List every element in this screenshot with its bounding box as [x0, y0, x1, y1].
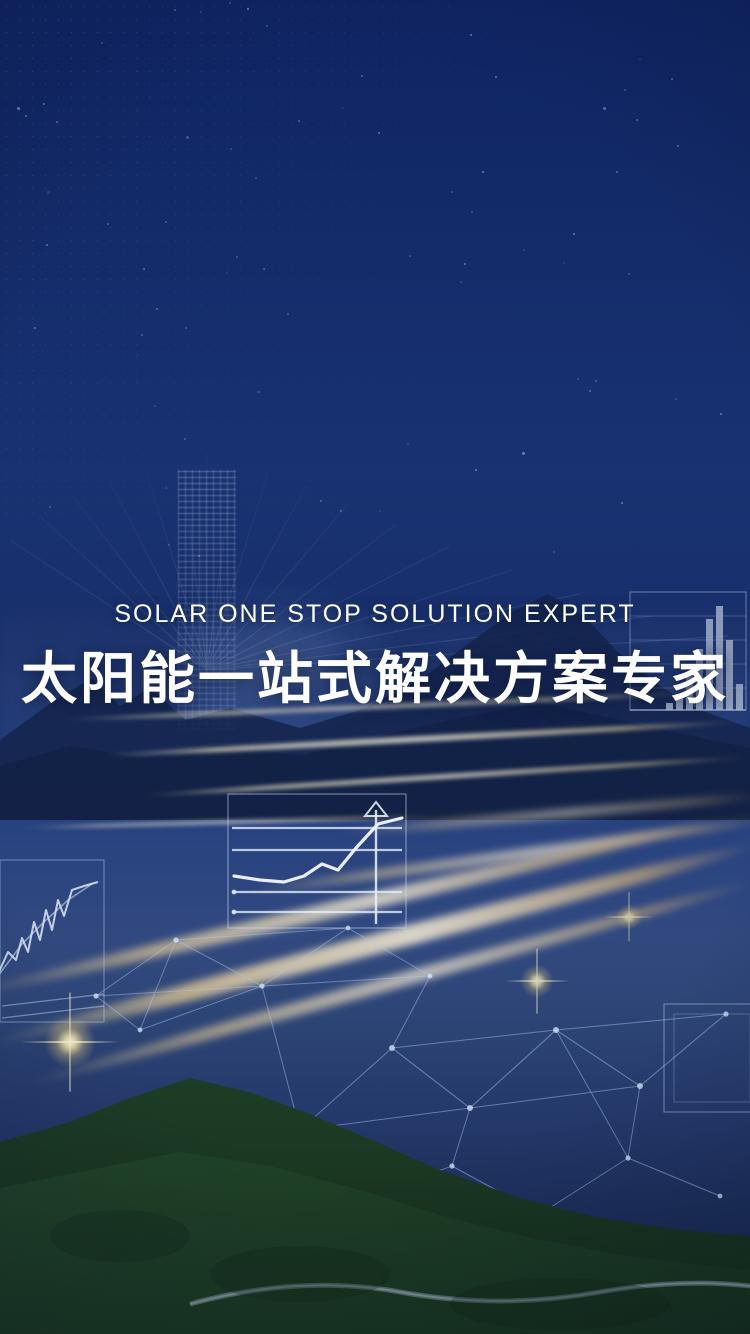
hud-line-chart — [226, 792, 410, 932]
forest-foreground-hill — [0, 974, 750, 1334]
hero-eyebrow: SOLAR ONE STOP SOLUTION EXPERT — [0, 602, 750, 627]
solar-hero-banner: SOLAR ONE STOP SOLUTION EXPERT 太阳能一站式解决方… — [0, 0, 750, 1334]
hero-copy: SOLAR ONE STOP SOLUTION EXPERT 太阳能一站式解决方… — [0, 602, 750, 709]
page-title: 太阳能一站式解决方案专家 — [0, 649, 750, 709]
